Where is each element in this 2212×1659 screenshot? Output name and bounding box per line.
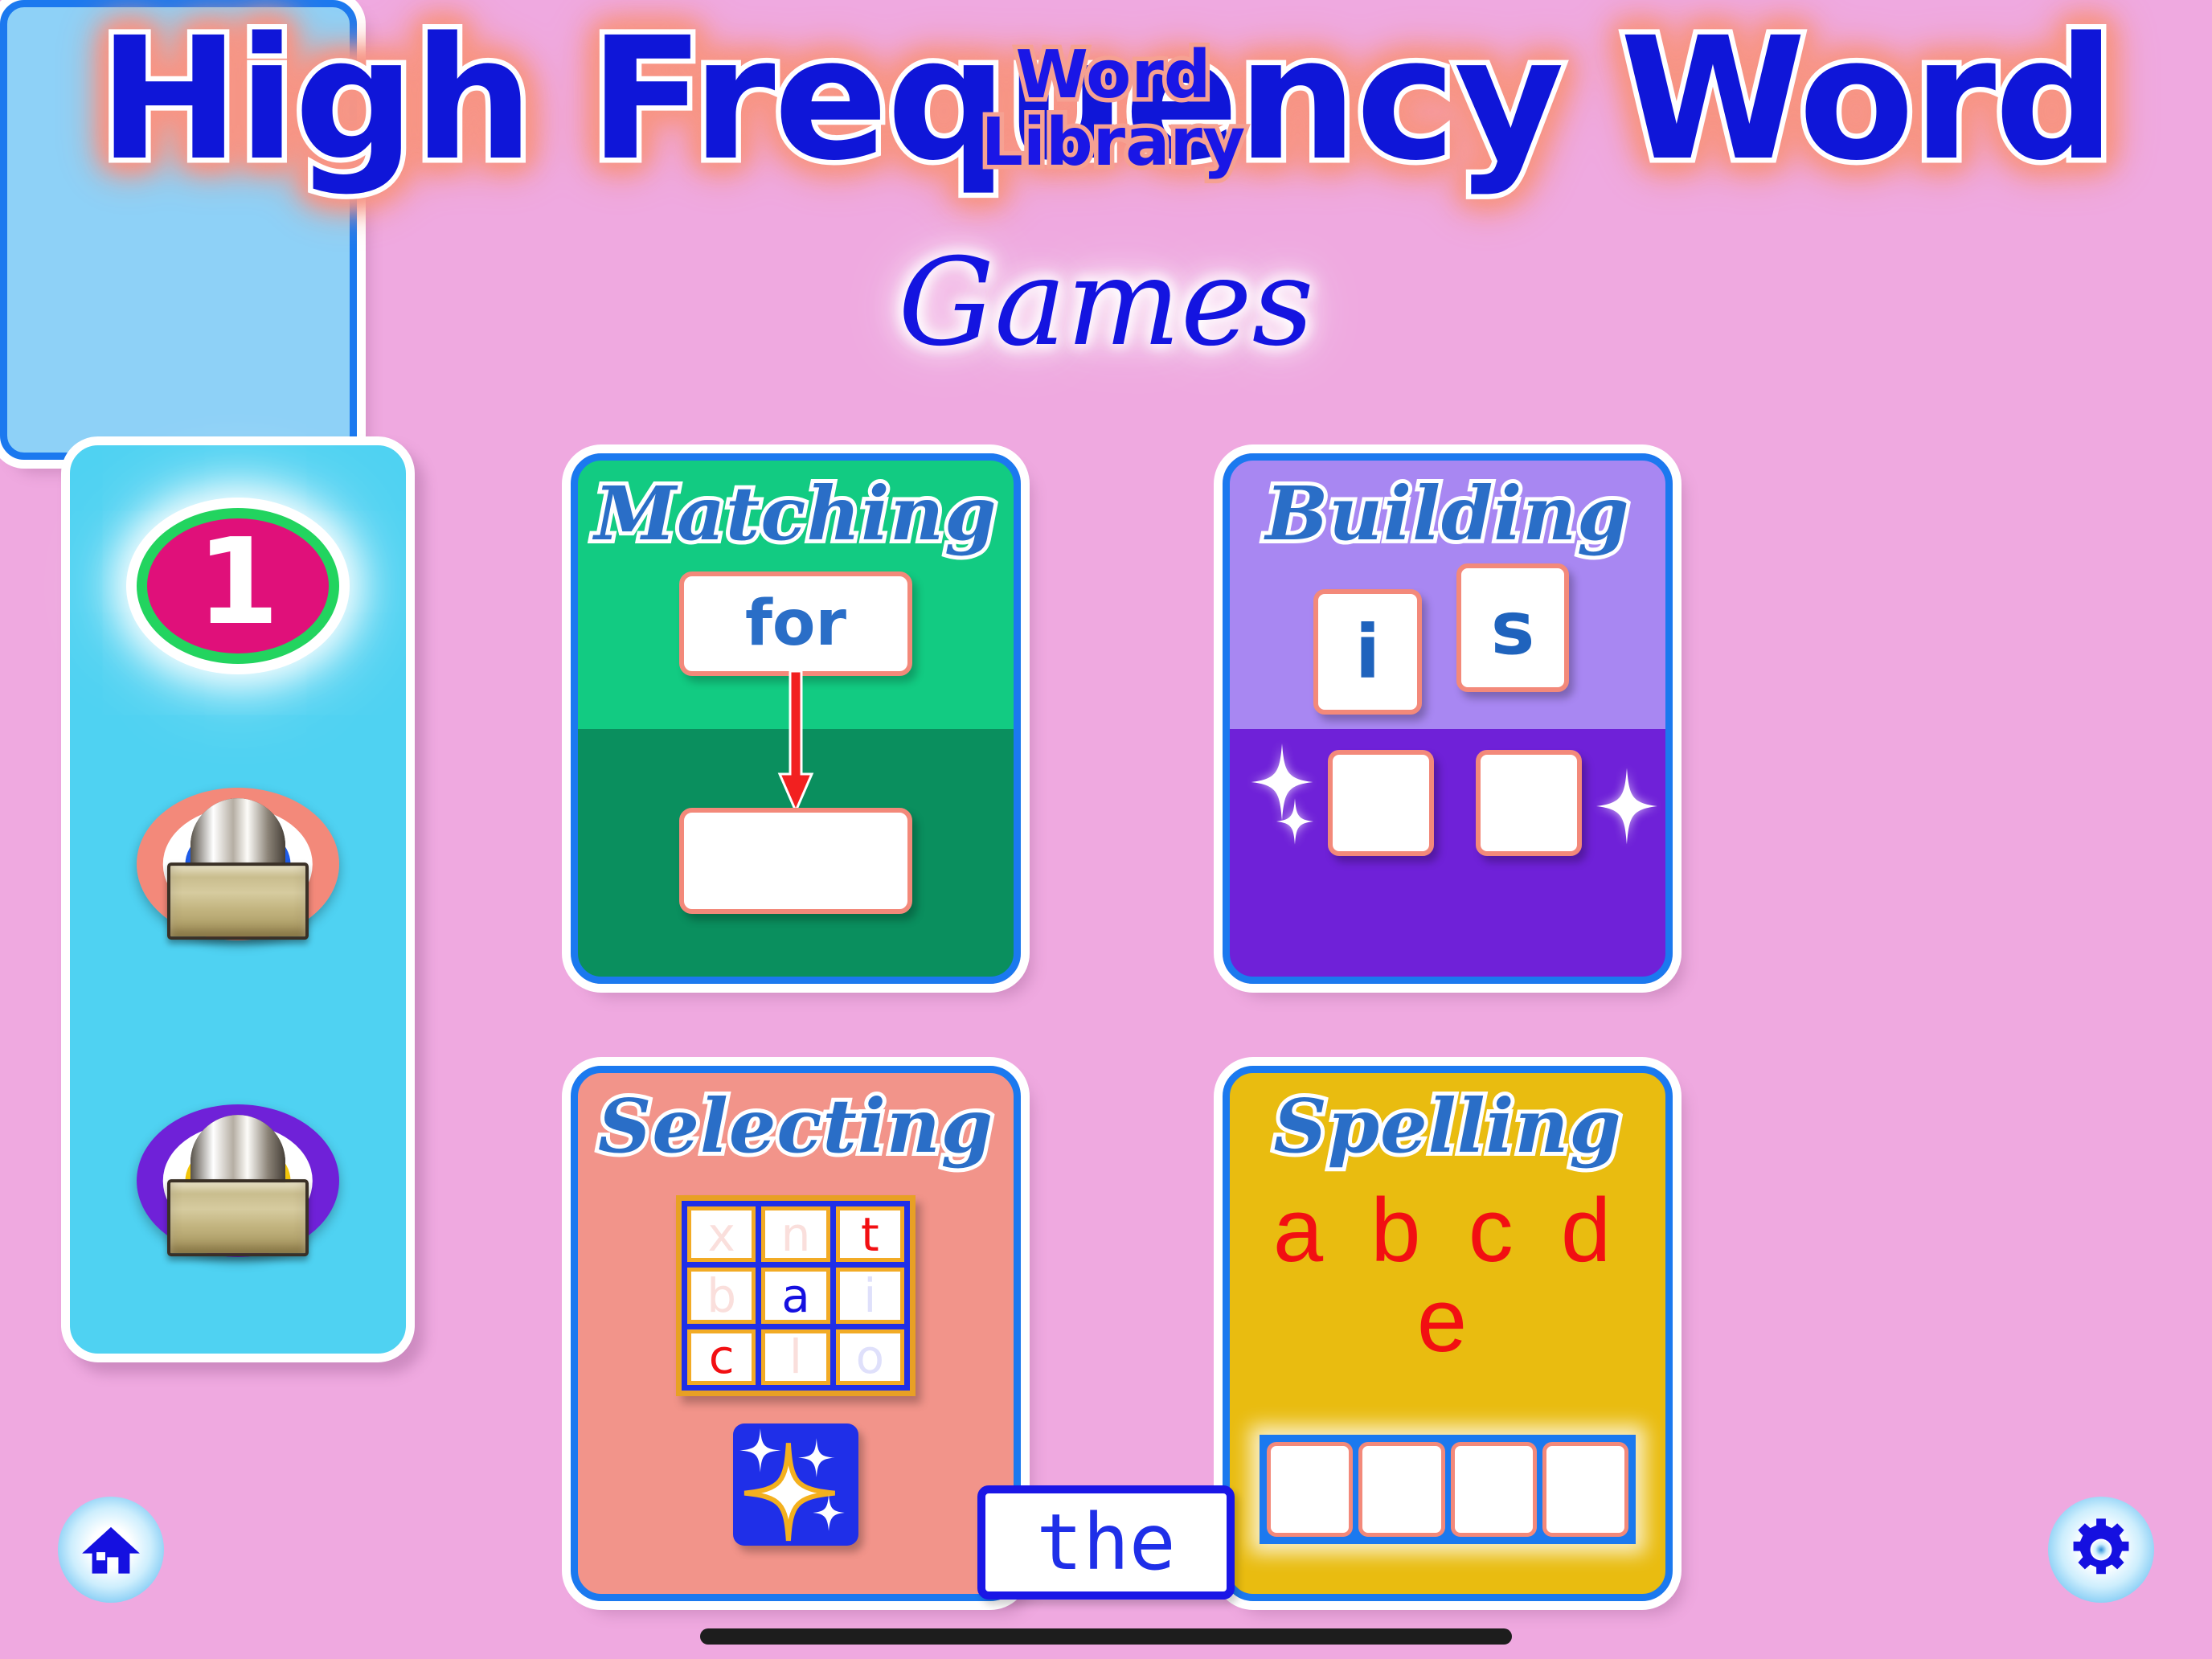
- selecting-letter-grid[interactable]: x n t b a i c l o: [676, 1195, 916, 1396]
- game-card-matching[interactable]: Matching for: [571, 453, 1021, 984]
- grid-letter: l: [789, 1333, 802, 1380]
- grid-cell[interactable]: o: [836, 1329, 904, 1385]
- spelling-answer-tray[interactable]: [1260, 1435, 1636, 1544]
- grid-letter: x: [708, 1211, 735, 1258]
- matching-answer-slot[interactable]: [679, 808, 912, 914]
- down-arrow-icon: [776, 671, 815, 816]
- sparkle-icon: [1276, 798, 1313, 845]
- game-card-spelling[interactable]: Spelling a b c d e: [1223, 1066, 1673, 1601]
- word-library-word: the: [1036, 1497, 1175, 1587]
- building-empty-slot-2[interactable]: [1476, 750, 1582, 856]
- matching-word-text: for: [745, 588, 846, 660]
- grid-cell[interactable]: t: [836, 1206, 904, 1262]
- locked-level-3[interactable]: [129, 1080, 346, 1281]
- home-indicator: [700, 1628, 1512, 1645]
- grid-cell[interactable]: n: [761, 1206, 829, 1262]
- building-letter-tile-s[interactable]: s: [1456, 563, 1569, 692]
- building-letter-s: s: [1491, 585, 1535, 671]
- spelling-slot[interactable]: [1451, 1442, 1537, 1537]
- level-badge[interactable]: 1: [137, 508, 339, 664]
- locked-level-2[interactable]: [129, 764, 346, 965]
- sparkle-icon: [1596, 768, 1657, 845]
- spelling-slot[interactable]: [1542, 1442, 1628, 1537]
- grid-cell[interactable]: c: [687, 1329, 756, 1385]
- building-empty-slot-1[interactable]: [1328, 750, 1434, 856]
- card-title-building: Building: [1230, 470, 1665, 557]
- spelling-alphabet-text: a b c d e: [1230, 1186, 1665, 1366]
- level-panel[interactable]: 1: [61, 436, 415, 1362]
- padlock-icon: [167, 798, 309, 941]
- home-button[interactable]: [58, 1497, 164, 1603]
- padlock-icon: [167, 1115, 309, 1258]
- matching-word-card[interactable]: for: [679, 571, 912, 676]
- selecting-sparkle-tile[interactable]: [733, 1423, 858, 1546]
- gear-icon: [2067, 1516, 2135, 1583]
- grid-cell[interactable]: b: [687, 1268, 756, 1323]
- word-library-word-box[interactable]: the: [977, 1485, 1235, 1600]
- card-title-matching: Matching: [578, 470, 1014, 557]
- grid-letter: b: [707, 1272, 736, 1319]
- building-letter-i: i: [1355, 609, 1381, 695]
- word-library-title-line1: Word: [7, 42, 2212, 109]
- grid-cell[interactable]: i: [836, 1268, 904, 1323]
- game-card-building[interactable]: Building i s: [1223, 453, 1673, 984]
- page-subtitle: Games: [0, 233, 2212, 373]
- grid-letter: n: [781, 1211, 811, 1258]
- game-card-selecting[interactable]: Selecting x n t b a i c l o: [571, 1066, 1021, 1601]
- grid-letter: t: [861, 1211, 879, 1258]
- card-title-selecting: Selecting: [578, 1083, 1014, 1169]
- grid-letter: o: [856, 1333, 885, 1380]
- grid-letter: c: [709, 1333, 735, 1380]
- building-letter-tile-i[interactable]: i: [1313, 589, 1422, 715]
- spelling-slot[interactable]: [1267, 1442, 1353, 1537]
- grid-letter: i: [863, 1272, 876, 1319]
- home-icon: [80, 1518, 142, 1581]
- grid-cell[interactable]: a: [761, 1268, 829, 1323]
- spelling-slot[interactable]: [1358, 1442, 1444, 1537]
- grid-cell[interactable]: l: [761, 1329, 829, 1385]
- settings-button[interactable]: [2048, 1497, 2154, 1603]
- grid-letter: a: [781, 1272, 810, 1319]
- word-library-title: Word Library: [7, 42, 2212, 176]
- word-library-title-line2: Library: [7, 109, 2212, 177]
- grid-cell[interactable]: x: [687, 1206, 756, 1262]
- sparkle-icon: [733, 1423, 858, 1546]
- card-title-spelling: Spelling: [1230, 1083, 1665, 1169]
- level-number: 1: [197, 522, 280, 641]
